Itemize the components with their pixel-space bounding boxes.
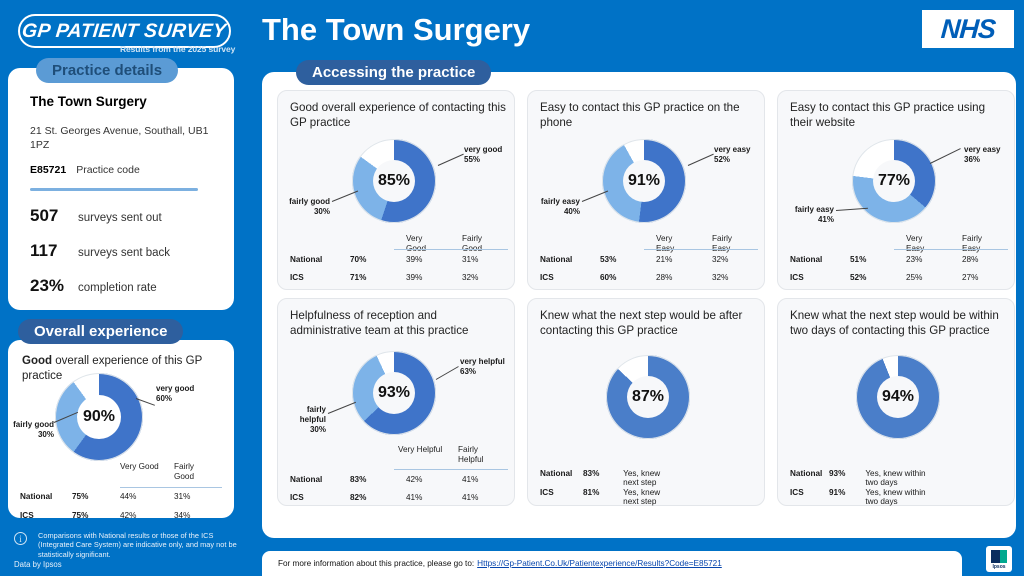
row-total: 82% [350,493,406,502]
metric-card-knew-within-two-days: Knew what the next step would be within … [777,298,1015,506]
donut-chart: 87% [606,355,690,439]
callout-value: 30% [282,425,326,435]
survey-year-subtitle: Results from the 2025 survey [120,44,235,54]
row-total: 81% [583,488,623,506]
row-cell-2: 32% [462,273,478,282]
row-cell-2: 28% [962,255,978,264]
page-title: The Town Surgery [262,12,530,48]
table-row: ICS 52% 25% 27% [790,273,978,282]
callout-value: 55% [464,155,502,165]
row-label: ICS [540,273,600,282]
row-fairly-good: 34% [174,511,190,520]
table-row: National 53% 21% 32% [540,255,728,264]
stat-label: completion rate [78,282,157,294]
row-label: National [790,255,850,264]
leader-line [438,154,464,166]
column-header-2: Fairly Good [462,234,482,254]
table-row: National 93% Yes, knew within two days [790,469,927,487]
row-label: ICS [540,488,583,506]
column-header-2: Fairly Helpful [458,445,498,465]
practice-code-label: Practice code [76,164,140,176]
callout-very-good: very good 60% [156,384,194,404]
row-total: 52% [850,273,906,282]
footer-data-by: Data by Ipsos [14,560,62,569]
table-rule [394,249,508,250]
footer-url-prefix: For more information about this practice… [278,559,474,568]
row-total: 51% [850,255,906,264]
callout-secondary: fairly good 30% [282,197,330,217]
callout-primary: very easy 52% [714,145,750,165]
table-row: National 70% 39% 31% [290,255,478,264]
donut-chart: 77% [852,139,936,223]
card-title: Knew what the next step would be within … [790,309,1006,338]
row-very-good: 44% [120,492,174,501]
callout-label: fairly easy [532,197,580,207]
gp-patient-survey-logo: GP PATIENT SURVEY [18,14,231,48]
row-total: 60% [600,273,656,282]
row-note: Yes, knew within two days [865,469,927,487]
column-header-2: Fairly Easy [962,234,982,254]
row-cell-2: 41% [462,493,478,502]
nhs-logo-text: NHS [940,14,996,45]
card-title: Knew what the next step would be after c… [540,309,756,338]
row-note: Yes, knew next step [623,488,675,506]
practice-name: The Town Surgery [30,94,147,109]
logo-text: GP PATIENT SURVEY [21,20,228,43]
callout-label: fairly helpful [282,405,326,425]
row-cell-1: 21% [656,255,712,264]
callout-label: very good [464,145,502,155]
row-cell-1: 39% [406,255,462,264]
callout-fairly-good: fairly good 30% [10,420,54,440]
row-label: National [290,255,350,264]
donut-chart: 85% [352,139,436,223]
callout-value: 30% [282,207,330,217]
table-row: ICS 82% 41% 41% [290,493,478,502]
row-total: 93% [829,469,865,487]
column-header-1: Very Good [406,234,426,254]
table-row: ICS 60% 28% 32% [540,273,728,282]
callout-secondary: fairly easy 41% [786,205,834,225]
callout-label: very easy [964,145,1000,155]
leader-line [436,366,459,380]
row-label: ICS [790,273,850,282]
metric-card-website-contact: Easy to contact this GP practice using t… [777,90,1015,290]
stat-value: 117 [30,241,78,261]
donut-chart: 93% [352,351,436,435]
donut-centre-value: 93% [378,384,410,402]
divider [30,188,198,191]
table-row: National 75% 44% 31% [20,492,190,501]
row-total: 83% [350,475,406,484]
practice-code-row: E85721Practice code [30,164,140,176]
donut-centre-value: 91% [628,172,660,190]
table-row: National 51% 23% 28% [790,255,978,264]
tab-practice-details-label: Practice details [52,62,162,79]
row-note: Yes, knew next step [623,469,675,487]
row-label: National [290,475,350,484]
row-total: 70% [350,255,406,264]
row-label: ICS [20,511,72,520]
row-label: ICS [790,488,829,506]
callout-primary: very good 55% [464,145,502,165]
row-very-good: 42% [120,511,174,520]
practice-code-value: E85721 [30,164,66,176]
survey-dashboard: GP PATIENT SURVEY Results from the 2025 … [0,0,1024,576]
row-cell-1: 25% [906,273,962,282]
callout-secondary: fairly helpful 30% [282,405,326,435]
column-header-fairly-good: Fairly Good [174,462,212,482]
row-cell-1: 28% [656,273,712,282]
row-label: National [790,469,829,487]
callout-value: 52% [714,155,750,165]
row-cell-2: 31% [462,255,478,264]
donut-chart: 91% [602,139,686,223]
donut-centre-value: 77% [878,172,910,190]
callout-value: 40% [532,207,580,217]
row-total: 91% [829,488,865,506]
column-header-very-good: Very Good [120,462,168,472]
tab-practice-details[interactable]: Practice details [36,58,178,83]
ipsos-mark-icon [991,550,1007,563]
stat-surveys-sent-back: 117 surveys sent back [30,241,170,261]
stat-label: surveys sent back [78,247,170,259]
tab-overall-experience[interactable]: Overall experience [18,319,183,344]
table-row: ICS 81% Yes, knew next step [540,488,675,506]
table-rule [894,249,1008,250]
callout-label: very helpful [460,357,505,367]
donut-centre-value: 85% [378,172,410,190]
row-label: ICS [290,493,350,502]
row-cell-1: 23% [906,255,962,264]
table-row: ICS 91% Yes, knew within two days [790,488,927,506]
info-icon-glyph: i [19,534,22,544]
callout-label: very easy [714,145,750,155]
column-header-1: Very Helpful [398,445,450,455]
callout-label: fairly easy [786,205,834,215]
metric-card-phone-contact: Easy to contact this GP practice on the … [527,90,765,290]
table-row: ICS 75% 42% 34% [20,511,190,520]
ipsos-logo: Ipsos [986,546,1012,572]
footer-url-link[interactable]: Https://Gp-Patient.Co.Uk/Patientexperien… [477,559,722,568]
row-cell-2: 32% [712,255,728,264]
practice-details-card: The Town Surgery 21 St. Georges Avenue, … [8,68,234,310]
callout-label: fairly good [10,420,54,430]
callout-secondary: fairly easy 40% [532,197,580,217]
column-header-1: Very Easy [906,234,924,254]
row-cell-1: 39% [406,273,462,282]
table-row: National 83% Yes, knew next step [540,469,675,487]
donut-chart: 94% [856,355,940,439]
callout-primary: very helpful 63% [460,357,505,377]
row-label: National [20,492,72,501]
tab-accessing-label: Accessing the practice [312,64,475,81]
row-cell-2: 41% [462,475,478,484]
footer-disclaimer: Comparisons with National results or tho… [38,531,244,559]
card-title: Easy to contact this GP practice on the … [540,101,756,130]
row-total: 75% [72,511,120,520]
nhs-logo: NHS [922,10,1014,48]
card-title: Helpfulness of reception and administrat… [290,309,506,338]
card-title: Good overall experience of contacting th… [290,101,506,130]
ipsos-logo-text: Ipsos [992,564,1005,570]
callout-label: very good [156,384,194,394]
table-rule [120,487,222,488]
callout-label: fairly good [282,197,330,207]
table-row: National 83% 42% 41% [290,475,478,484]
row-label: ICS [290,273,350,282]
row-total: 83% [583,469,623,487]
stat-surveys-sent-out: 507 surveys sent out [30,206,162,226]
stat-label: surveys sent out [78,212,162,224]
row-fairly-good: 31% [174,492,190,501]
stat-value: 23% [30,276,78,296]
info-icon: i [14,532,27,545]
tab-overall-experience-label: Overall experience [34,323,167,340]
leader-line [688,154,714,166]
metric-card-reception-helpfulness: Helpfulness of reception and administrat… [277,298,515,506]
donut-centre-value: 87% [632,388,664,406]
footer-url-bar: For more information about this practice… [262,551,962,576]
donut-centre-value: 94% [882,388,914,406]
callout-value: 36% [964,155,1000,165]
row-cell-2: 32% [712,273,728,282]
metric-card-knew-next-step: Knew what the next step would be after c… [527,298,765,506]
overall-experience-centre-value: 90% [83,408,115,426]
row-label: National [540,469,583,487]
row-cell-2: 27% [962,273,978,282]
row-label: National [540,255,600,264]
tab-accessing-the-practice[interactable]: Accessing the practice [296,60,491,85]
row-note: Yes, knew within two days [865,488,927,506]
row-total: 53% [600,255,656,264]
metric-card-overall-contact: Good overall experience of contacting th… [277,90,515,290]
table-rule [644,249,758,250]
callout-value: 60% [156,394,194,404]
practice-address: 21 St. Georges Avenue, Southall, UB1 1PZ [30,124,220,152]
stat-completion-rate: 23% completion rate [30,276,157,296]
callout-value: 41% [786,215,834,225]
table-rule [394,469,508,470]
stat-value: 507 [30,206,78,226]
row-total: 75% [72,492,120,501]
card-title: Easy to contact this GP practice using t… [790,101,1006,130]
callout-primary: very easy 36% [964,145,1000,165]
row-cell-1: 42% [406,475,462,484]
overall-experience-card: Good overall experience of this GP pract… [8,340,234,518]
row-total: 71% [350,273,406,282]
column-header-2: Fairly Easy [712,234,732,254]
overall-experience-title-bold: Good [22,355,52,367]
callout-value: 63% [460,367,505,377]
table-row: ICS 71% 39% 32% [290,273,478,282]
row-cell-1: 41% [406,493,462,502]
callout-value: 30% [10,430,54,440]
column-header-1: Very Easy [656,234,674,254]
